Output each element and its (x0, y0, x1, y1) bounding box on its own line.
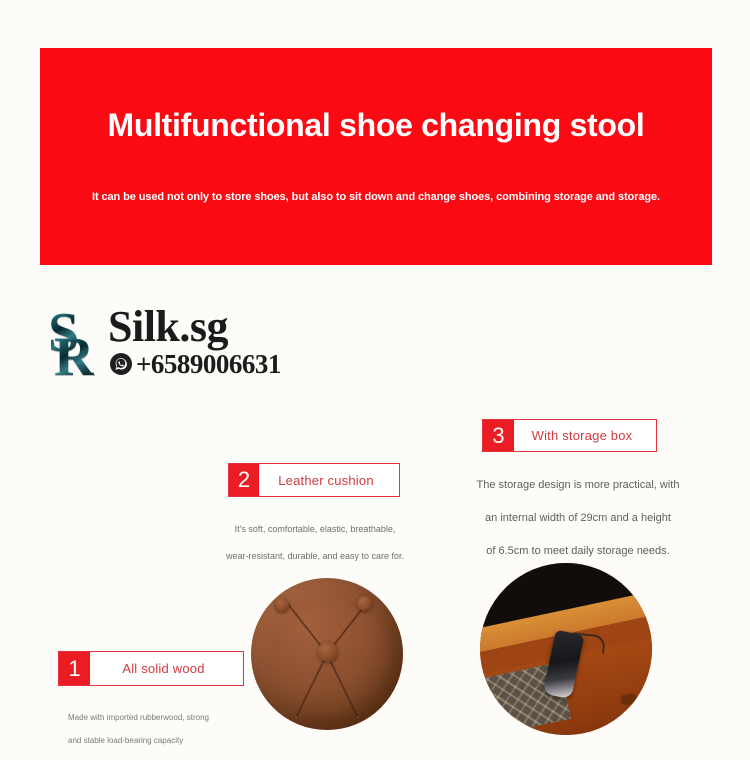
feature-description-2-line-2: wear-resistant, durable, and easy to car… (222, 543, 408, 570)
feature-description-1-line-2: and stable load-bearing capacity (68, 729, 268, 752)
cushion-button-right (357, 596, 372, 611)
page-title: Multifunctional shoe changing stool (40, 106, 712, 144)
brand-wordmark: Silk.sg (108, 303, 228, 351)
feature-badge-leather-cushion: 2 Leather cushion (228, 463, 400, 497)
feature-description-3-line-1: The storage design is more practical, wi… (462, 469, 694, 502)
feature-number-1: 1 (59, 652, 90, 685)
cushion-button-center (318, 642, 338, 662)
feature-description-2-line-1: It's soft, comfortable, elastic, breatha… (222, 516, 408, 543)
phone-number: +6589006631 (136, 349, 281, 379)
product-photo-leather-cushion (251, 578, 403, 730)
feature-description-3: The storage design is more practical, wi… (462, 469, 694, 568)
contact-phone-row: +6589006631 (110, 349, 281, 379)
product-photo-storage-box (480, 563, 652, 735)
sr-monogram-icon: S R (46, 305, 108, 379)
feature-description-1-line-1: Made with imported rubberwood, strong (68, 706, 268, 729)
monogram-r-letter: R (54, 329, 94, 385)
hero-subtitle: It can be used not only to store shoes, … (40, 190, 712, 204)
feature-badge-storage-box: 3 With storage box (482, 419, 657, 452)
brand-logo: S R Silk.sg +6589006631 (46, 303, 306, 387)
product-detail-page: Multifunctional shoe changing stool It c… (0, 0, 750, 760)
feature-label-1: All solid wood (90, 652, 243, 685)
feature-label-3: With storage box (514, 420, 656, 451)
feature-label-2: Leather cushion (259, 464, 399, 496)
feature-description-1: Made with imported rubberwood, strong an… (62, 706, 268, 752)
feature-number-3: 3 (483, 420, 514, 451)
feature-description-2: It's soft, comfortable, elastic, breatha… (222, 516, 408, 570)
hero-banner: Multifunctional shoe changing stool It c… (40, 48, 712, 265)
feature-badge-all-solid-wood: 1 All solid wood (58, 651, 244, 686)
cushion-seam-lower-right (295, 654, 327, 718)
cushion-button-left (275, 598, 289, 612)
feature-description-3-line-2: an internal width of 29cm and a height (462, 502, 694, 535)
cushion-seam-lower-left (326, 654, 358, 718)
feature-number-2: 2 (229, 464, 259, 496)
whatsapp-icon (110, 353, 132, 375)
